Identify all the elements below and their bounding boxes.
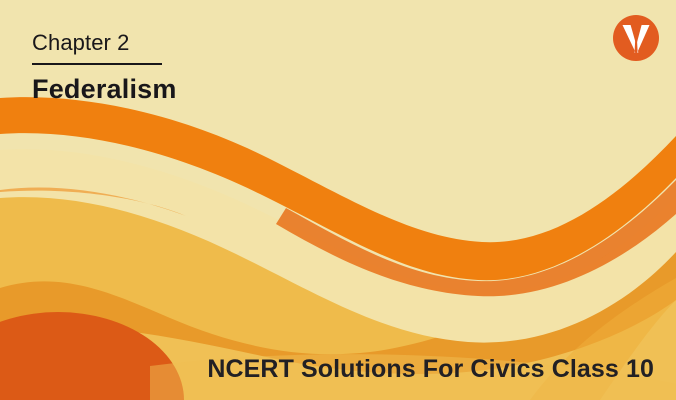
heading-block: Chapter 2 Federalism [32,30,177,105]
vedantu-v-logo-icon[interactable] [610,12,662,64]
footer-caption: NCERT Solutions For Civics Class 10 [207,355,654,384]
title-divider [32,63,162,65]
brand-logo[interactable] [610,12,662,64]
chapter-cover-card: Chapter 2 Federalism NCERT Solutions For… [0,0,676,400]
chapter-label: Chapter 2 [32,30,177,56]
page-title: Federalism [32,74,177,105]
